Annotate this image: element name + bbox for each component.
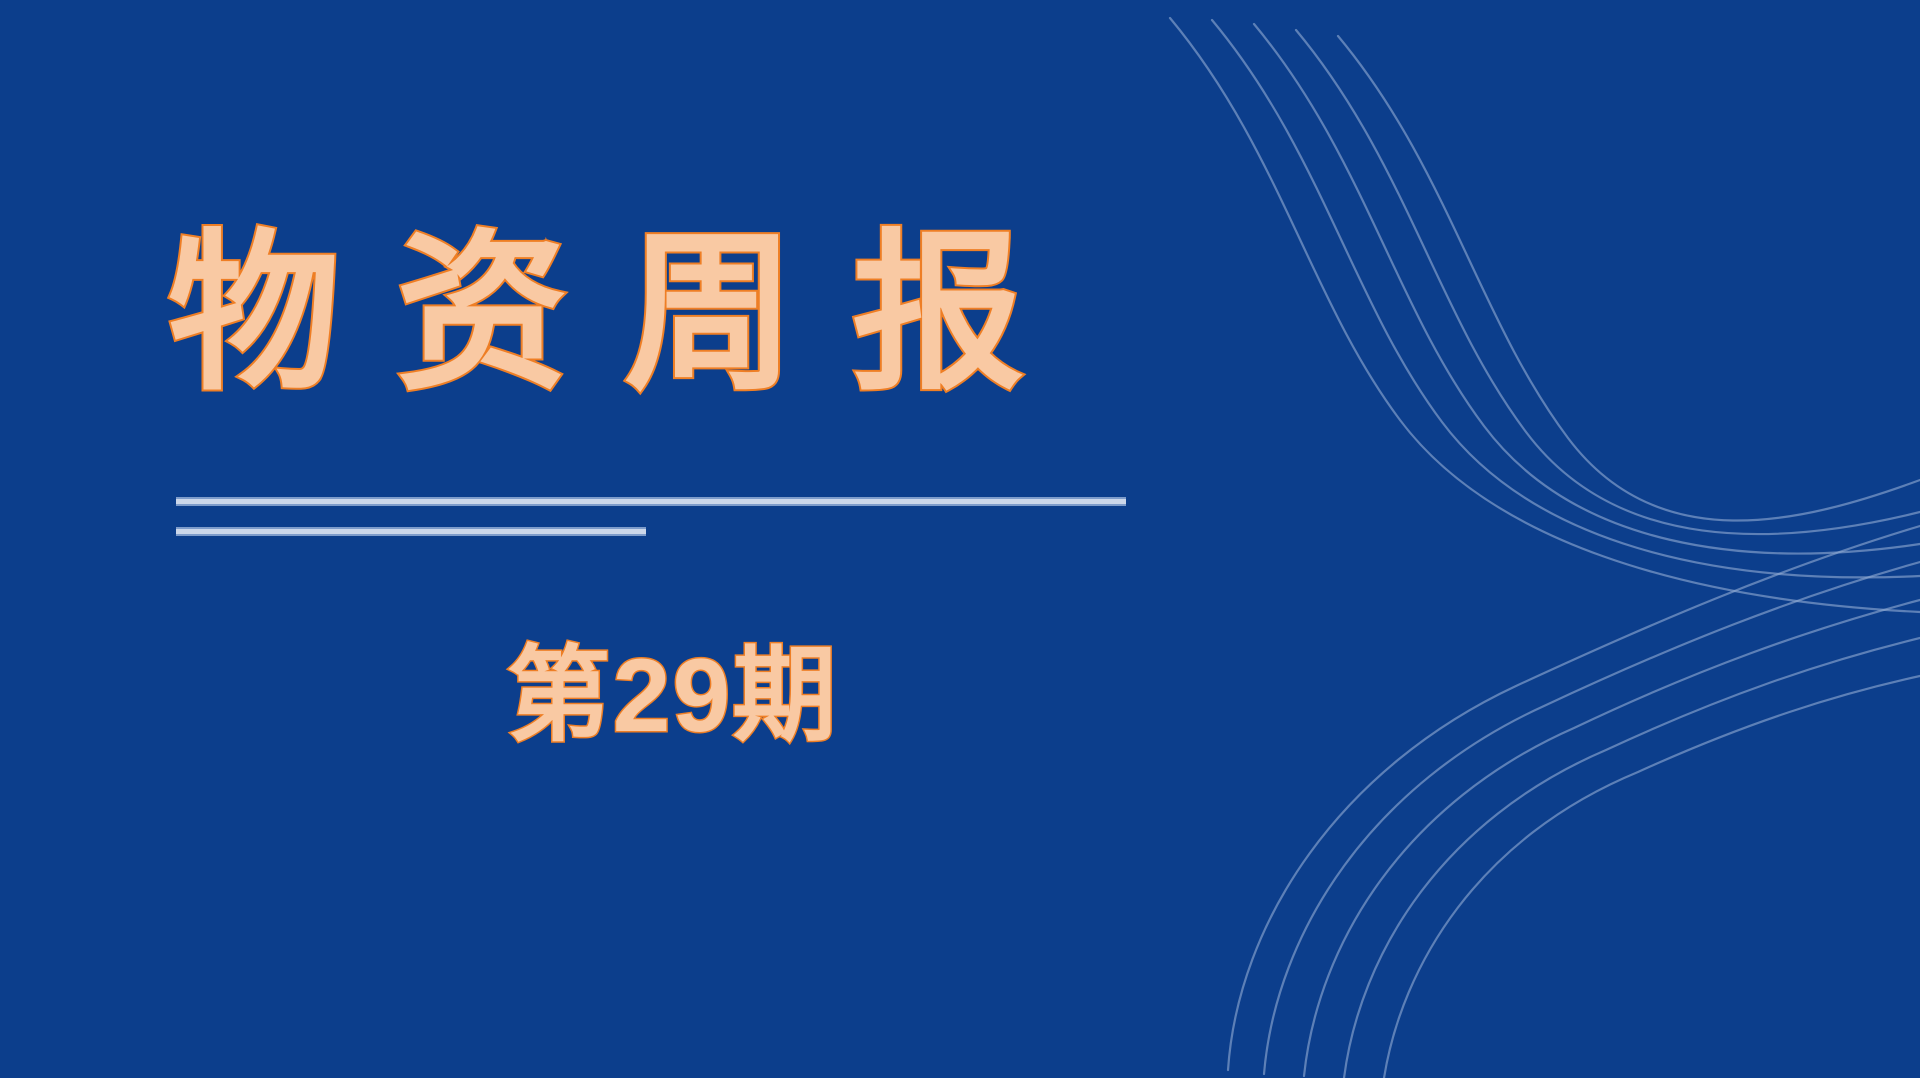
slide-canvas: 物资周报 第29期 [0,0,1920,1078]
divider-line-short [176,527,646,536]
wave-lines-top-right [1160,0,1920,620]
title-block: 物资周报 [168,222,1168,408]
wave-line-tr-5 [1338,36,1920,521]
divider-line-long [176,497,1126,506]
wave-line-tr-2 [1212,20,1920,577]
wave-line-tr-3 [1254,24,1920,553]
wave-bottom-right-svg [1220,518,1920,1078]
wave-line-br-4 [1344,638,1920,1078]
page-title: 物资周报 [168,222,1168,408]
wave-top-right-svg [1160,0,1920,620]
wave-line-br-5 [1384,676,1920,1078]
issue-number-label: 第29期 [507,638,839,754]
wave-line-br-1 [1228,526,1920,1070]
wave-line-tr-1 [1170,18,1920,612]
divider-group [176,497,1176,536]
wave-line-tr-4 [1296,30,1920,534]
wave-line-br-2 [1264,562,1920,1074]
wave-line-br-3 [1304,600,1920,1076]
subtitle-block: 第29期 [0,638,1345,754]
wave-lines-bottom-right [1220,518,1920,1078]
